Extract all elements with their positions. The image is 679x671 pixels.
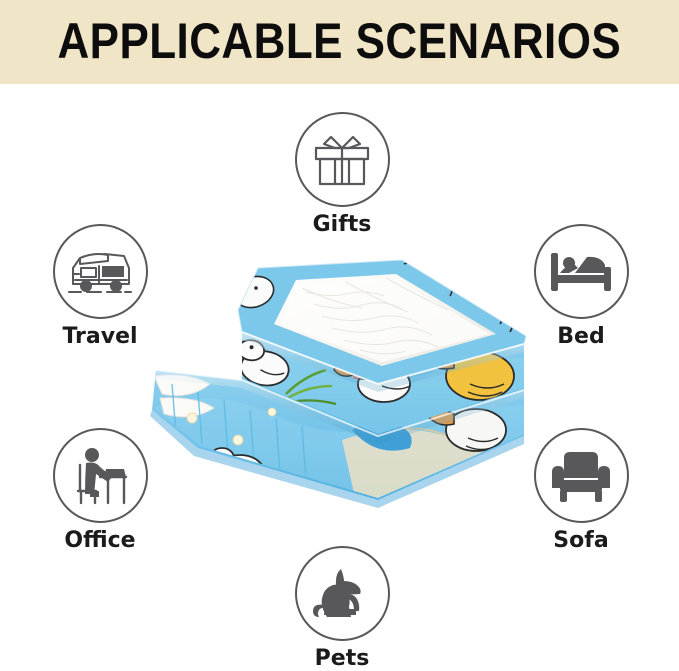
scenario-label-travel: Travel [62, 326, 137, 348]
travel-icon-circle [53, 224, 148, 319]
scenario-label-bed: Bed [557, 326, 604, 348]
armchair-icon [550, 448, 612, 504]
scenario-item-bed[interactable]: Bed [521, 224, 641, 348]
scenario-item-pets[interactable]: Pets [282, 546, 402, 670]
desk-chair-icon [70, 447, 130, 505]
bed-icon-circle [534, 224, 629, 319]
scenario-label-gifts: Gifts [313, 214, 372, 236]
scenario-item-office[interactable]: Office [40, 428, 160, 552]
sofa-icon-circle [534, 428, 629, 523]
office-icon-circle [53, 428, 148, 523]
scenario-item-sofa[interactable]: Sofa [521, 428, 641, 552]
gifts-icon-circle [295, 112, 390, 207]
bed-icon [549, 249, 613, 295]
product-blanket-image [146, 258, 534, 526]
pets-icon-circle [295, 546, 390, 641]
scenario-item-travel[interactable]: Travel [40, 224, 160, 348]
scenario-label-pets: Pets [315, 648, 370, 670]
scenario-label-sofa: Sofa [553, 530, 608, 552]
scenario-item-gifts[interactable]: Gifts [282, 112, 402, 236]
scenario-label-office: Office [64, 530, 135, 552]
rv-camper-icon [67, 246, 133, 298]
gift-icon [313, 133, 371, 187]
header-band: APPLICABLE SCENARIOS [0, 0, 679, 84]
page-title: APPLICABLE SCENARIOS [58, 16, 622, 69]
dog-icon [311, 565, 373, 623]
